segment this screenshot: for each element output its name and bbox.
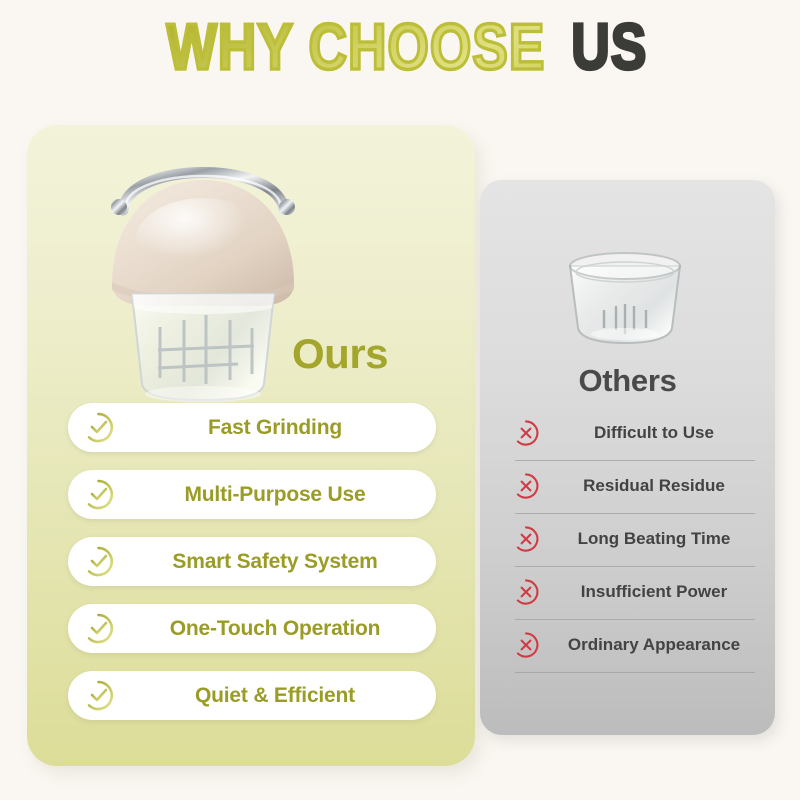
feature-pill[interactable]: Multi-Purpose Use <box>68 470 436 519</box>
check-circle-icon <box>82 545 115 578</box>
drawback-label: Difficult to Use <box>546 412 762 454</box>
feature-label: Quiet & Efficient <box>126 671 424 720</box>
page-title-accent: US <box>571 15 647 80</box>
check-circle-icon <box>82 478 115 511</box>
others-label: Others <box>480 365 775 396</box>
row-divider <box>515 619 755 620</box>
check-circle-icon <box>82 612 115 645</box>
row-divider <box>515 460 755 461</box>
feature-pill[interactable]: Fast Grinding <box>68 403 436 452</box>
check-circle-icon <box>82 679 115 712</box>
x-circle-icon <box>512 578 540 606</box>
drawback-row[interactable]: Difficult to Use <box>512 412 762 454</box>
feature-label: Smart Safety System <box>126 537 424 586</box>
row-divider <box>515 672 755 673</box>
x-circle-icon <box>512 419 540 447</box>
drawback-label: Insufficient Power <box>546 571 762 613</box>
row-divider <box>515 566 755 567</box>
feature-label: One-Touch Operation <box>126 604 424 653</box>
others-product-image <box>556 248 694 348</box>
drawback-label: Ordinary Appearance <box>546 624 762 666</box>
row-divider <box>515 513 755 514</box>
feature-label: Multi-Purpose Use <box>126 470 424 519</box>
drawback-row[interactable]: Ordinary Appearance <box>512 624 762 666</box>
x-circle-icon <box>512 631 540 659</box>
page-title-highlight: WHY CHOOSE <box>166 15 545 80</box>
feature-pill[interactable]: Smart Safety System <box>68 537 436 586</box>
x-circle-icon <box>512 525 540 553</box>
drawback-label: Residual Residue <box>546 465 762 507</box>
check-circle-icon <box>82 411 115 444</box>
feature-label: Fast Grinding <box>126 403 424 452</box>
drawback-row[interactable]: Residual Residue <box>512 465 762 507</box>
x-circle-icon <box>512 472 540 500</box>
drawback-row[interactable]: Insufficient Power <box>512 571 762 613</box>
drawback-row[interactable]: Long Beating Time <box>512 518 762 560</box>
drawback-label: Long Beating Time <box>546 518 762 560</box>
ours-product-image <box>88 132 318 402</box>
feature-pill[interactable]: One-Touch Operation <box>68 604 436 653</box>
feature-pill[interactable]: Quiet & Efficient <box>68 671 436 720</box>
ours-label: Ours <box>292 333 388 375</box>
page-title: WHY CHOOSEUS <box>0 22 800 80</box>
